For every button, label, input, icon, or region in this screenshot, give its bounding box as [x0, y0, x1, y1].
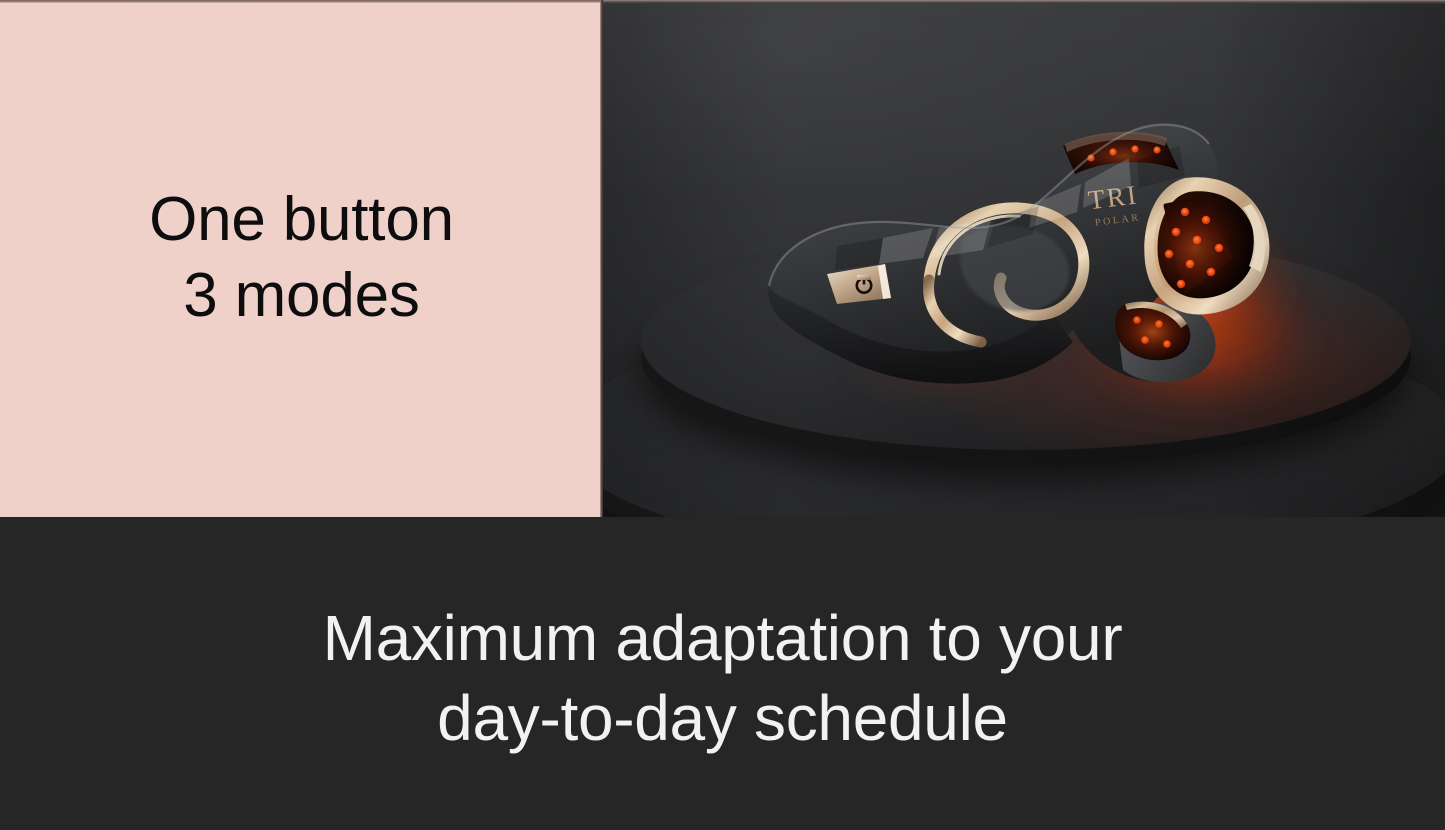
caption-panel: Maximum adaptation to your day-to-day sc… [0, 517, 1445, 830]
headline: One button 3 modes [149, 182, 454, 333]
headline-line-2: 3 modes [149, 258, 454, 334]
top-row: One button 3 modes [0, 0, 1445, 517]
promo-slide: One button 3 modes [0, 0, 1445, 830]
caption: Maximum adaptation to your day-to-day sc… [323, 598, 1123, 758]
headline-line-1: One button [149, 182, 454, 258]
photo-top-edge [603, 0, 1445, 4]
right-eye-opening [1139, 177, 1269, 314]
caption-line-2: day-to-day schedule [323, 678, 1123, 758]
caption-line-1: Maximum adaptation to your [323, 598, 1123, 678]
led-eye-mask-device: TRI POLAR [733, 108, 1373, 408]
product-photo: TRI POLAR [603, 0, 1445, 517]
headline-panel: One button 3 modes [0, 0, 603, 517]
